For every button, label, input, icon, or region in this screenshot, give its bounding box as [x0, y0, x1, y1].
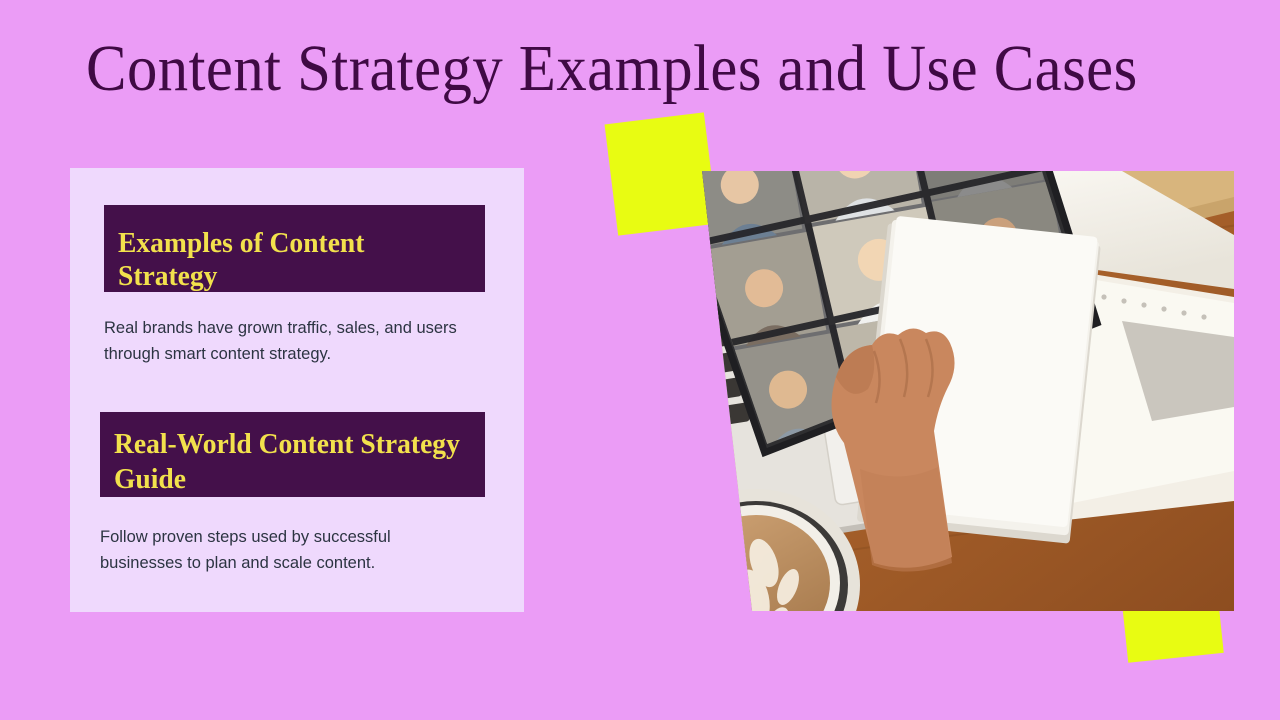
body-text-examples: Real brands have grown traffic, sales, a… — [104, 316, 474, 367]
heading-banner-examples: Examples of Content Strategy — [104, 205, 485, 292]
yellow-square-top-left-icon — [605, 112, 718, 235]
heading-banner-examples-label: Examples of Content Strategy — [118, 227, 467, 293]
content-card: Examples of Content Strategy Real brands… — [70, 168, 524, 612]
body-text-guide: Follow proven steps used by successful b… — [100, 525, 470, 576]
heading-banner-guide-label: Real-World Content Strategy Guide — [114, 427, 466, 498]
heading-banner-guide: Real-World Content Strategy Guide — [100, 412, 485, 497]
page-title: Content Strategy Examples and Use Cases — [86, 30, 1098, 108]
desk-photo — [652, 171, 1234, 611]
slide-canvas: Content Strategy Examples and Use Cases … — [0, 0, 1280, 720]
photo-composition — [600, 110, 1220, 670]
